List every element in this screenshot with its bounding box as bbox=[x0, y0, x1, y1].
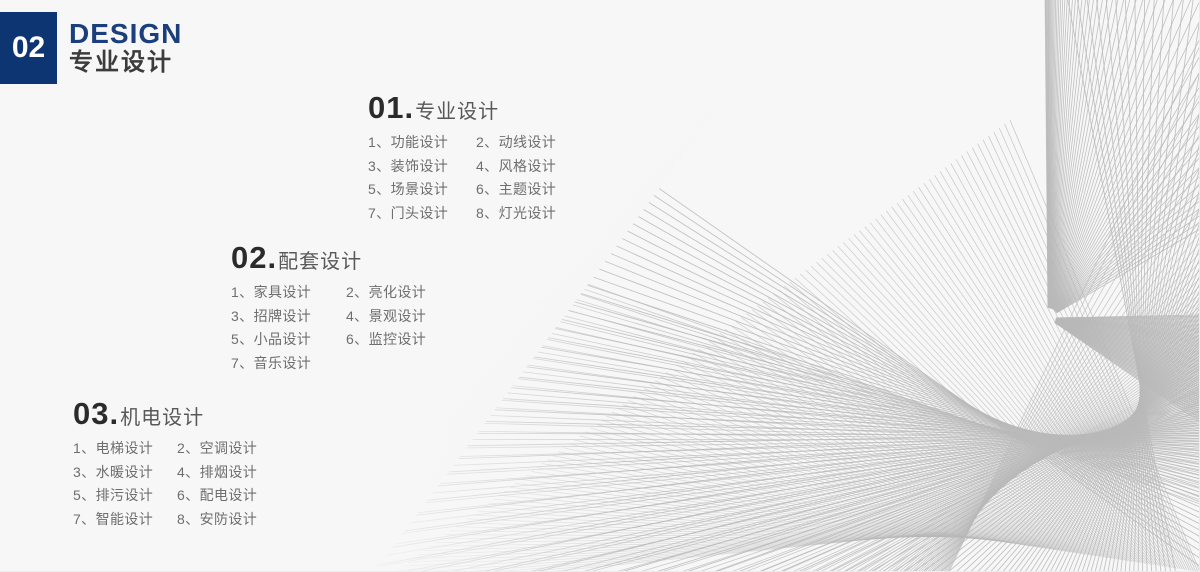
section-item: 7、智能设计 bbox=[73, 508, 177, 532]
section-item: 8、灯光设计 bbox=[476, 202, 556, 226]
section-item-row: 1、功能设计 2、动线设计 bbox=[368, 131, 556, 155]
section-title-02: 配套设计 bbox=[278, 252, 362, 272]
section-index-01: 01 bbox=[368, 92, 404, 123]
section-title-01: 专业设计 bbox=[415, 102, 499, 122]
section-item: 2、动线设计 bbox=[476, 131, 556, 155]
header-title-group: DESIGN 专业设计 bbox=[69, 12, 182, 84]
section-heading-02: 02 . 配套设计 bbox=[231, 242, 461, 273]
section-dot-01: . bbox=[404, 92, 413, 123]
section-item: 1、电梯设计 bbox=[73, 437, 177, 461]
section-block-01: 01 . 专业设计 1、功能设计 2、动线设计 3、装饰设计 4、风格设计 5、… bbox=[368, 92, 556, 225]
section-title-03: 机电设计 bbox=[120, 408, 204, 428]
section-item-row: 7、门头设计 8、灯光设计 bbox=[368, 202, 556, 226]
section-item: 3、水暖设计 bbox=[73, 461, 177, 485]
section-item-row: 5、排污设计 6、配电设计 bbox=[73, 484, 281, 508]
section-items-01: 1、功能设计 2、动线设计 3、装饰设计 4、风格设计 5、场景设计 6、主题设… bbox=[368, 131, 556, 225]
section-item: 7、音乐设计 bbox=[231, 352, 346, 376]
slide-header: 02 DESIGN 专业设计 bbox=[0, 12, 182, 84]
section-items-02: 1、家具设计 2、亮化设计 3、招牌设计 4、景观设计 5、小品设计 6、监控设… bbox=[231, 281, 461, 375]
section-item: 4、风格设计 bbox=[476, 155, 556, 179]
section-item-row: 5、小品设计 6、监控设计 bbox=[231, 328, 461, 352]
section-item bbox=[346, 352, 461, 376]
section-dot-03: . bbox=[109, 398, 118, 429]
section-block-02: 02 . 配套设计 1、家具设计 2、亮化设计 3、招牌设计 4、景观设计 5、… bbox=[231, 242, 461, 375]
section-index-02: 02 bbox=[231, 242, 267, 273]
section-number-badge-label: 02 bbox=[12, 33, 45, 63]
section-block-03: 03 . 机电设计 1、电梯设计 2、空调设计 3、水暖设计 4、排烟设计 5、… bbox=[73, 398, 281, 531]
section-heading-01: 01 . 专业设计 bbox=[368, 92, 556, 123]
section-item-row: 1、家具设计 2、亮化设计 bbox=[231, 281, 461, 305]
section-item-row: 7、智能设计 8、安防设计 bbox=[73, 508, 281, 532]
section-item: 5、小品设计 bbox=[231, 328, 346, 352]
section-dot-02: . bbox=[267, 242, 276, 273]
page-title-cn: 专业设计 bbox=[69, 50, 182, 77]
section-item: 4、排烟设计 bbox=[177, 461, 281, 485]
section-item-row: 7、音乐设计 bbox=[231, 352, 461, 376]
section-item: 6、监控设计 bbox=[346, 328, 461, 352]
section-index-03: 03 bbox=[73, 398, 109, 429]
section-item: 5、场景设计 bbox=[368, 178, 476, 202]
section-item: 5、排污设计 bbox=[73, 484, 177, 508]
section-item-row: 3、水暖设计 4、排烟设计 bbox=[73, 461, 281, 485]
section-item: 2、亮化设计 bbox=[346, 281, 461, 305]
section-item: 3、招牌设计 bbox=[231, 305, 346, 329]
section-item-row: 5、场景设计 6、主题设计 bbox=[368, 178, 556, 202]
section-items-03: 1、电梯设计 2、空调设计 3、水暖设计 4、排烟设计 5、排污设计 6、配电设… bbox=[73, 437, 281, 531]
page-title-en: DESIGN bbox=[69, 19, 182, 49]
section-item: 1、家具设计 bbox=[231, 281, 346, 305]
section-item: 4、景观设计 bbox=[346, 305, 461, 329]
section-item-row: 1、电梯设计 2、空调设计 bbox=[73, 437, 281, 461]
section-item: 3、装饰设计 bbox=[368, 155, 476, 179]
section-number-badge: 02 bbox=[0, 12, 57, 84]
section-item: 8、安防设计 bbox=[177, 508, 281, 532]
section-heading-03: 03 . 机电设计 bbox=[73, 398, 281, 429]
slide-canvas: 02 DESIGN 专业设计 01 . 专业设计 1、功能设计 2、动线设计 3… bbox=[0, 0, 1200, 572]
section-item: 6、配电设计 bbox=[177, 484, 281, 508]
section-item: 2、空调设计 bbox=[177, 437, 281, 461]
section-item-row: 3、装饰设计 4、风格设计 bbox=[368, 155, 556, 179]
section-item-row: 3、招牌设计 4、景观设计 bbox=[231, 305, 461, 329]
section-item: 1、功能设计 bbox=[368, 131, 476, 155]
section-item: 6、主题设计 bbox=[476, 178, 556, 202]
section-item: 7、门头设计 bbox=[368, 202, 476, 226]
